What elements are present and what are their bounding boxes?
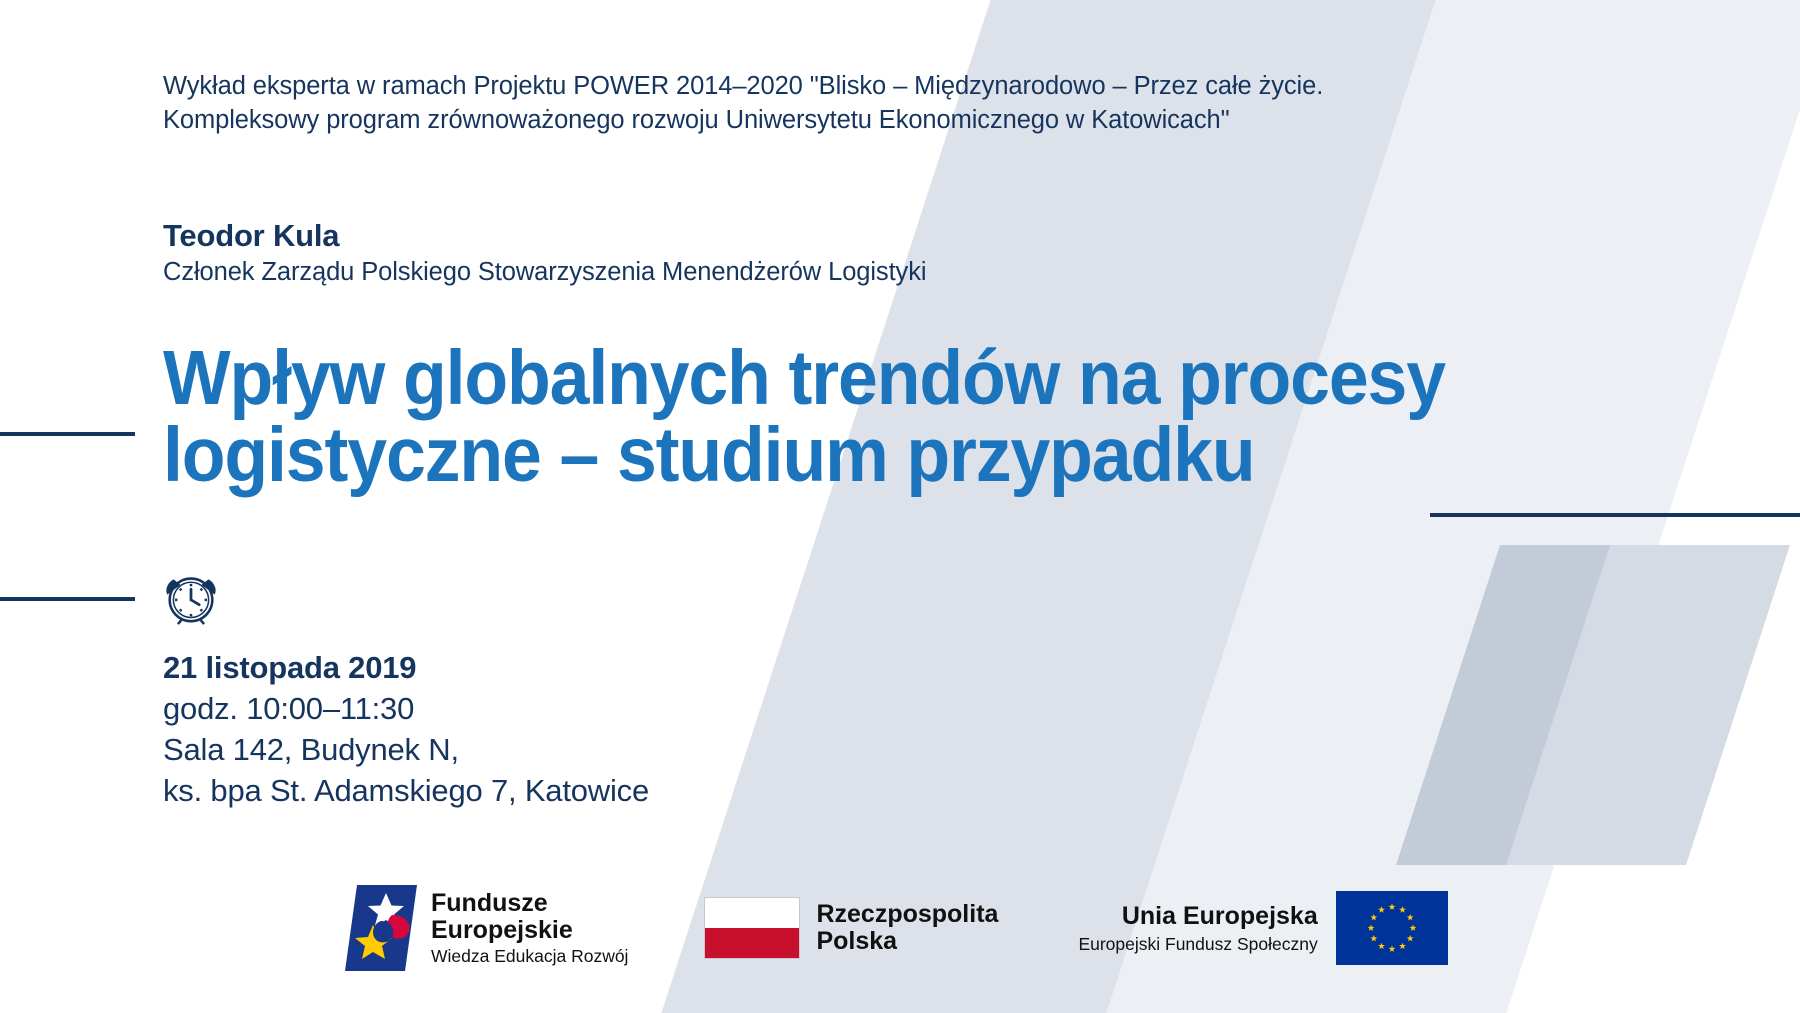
lecture-title-line-2: logistyczne – studium przypadku — [163, 417, 1577, 494]
rzeczpospolita-text: Rzeczpospolita Polska — [816, 901, 998, 956]
logo-rzeczpospolita-polska: Rzeczpospolita Polska — [704, 897, 998, 959]
fundusze-line-3: Wiedza Edukacja Rozwój — [431, 947, 628, 966]
poland-flag-red-stripe — [705, 928, 799, 958]
rule-left-title — [0, 432, 135, 436]
project-description-line-2: Kompleksowy program zrównoważonego rozwo… — [163, 104, 1393, 138]
poland-flag-icon — [704, 897, 800, 959]
rule-right-title — [1430, 513, 1800, 517]
logo-unia-europejska: Unia Europejska Europejski Fundusz Społe… — [1078, 891, 1447, 965]
unia-europejska-text: Unia Europejska Europejski Fundusz Społe… — [1078, 902, 1317, 954]
event-address: ks. bpa St. Adamskiego 7, Katowice — [163, 771, 649, 812]
unia-line-1: Unia Europejska — [1078, 902, 1317, 931]
fundusze-line-2: Europejskie — [431, 917, 628, 944]
project-description: Wykład eksperta w ramach Projektu POWER … — [163, 70, 1393, 138]
funding-logo-strip: Fundusze Europejskie Wiedza Edukacja Roz… — [345, 885, 1448, 971]
alarm-clock-icon — [160, 565, 222, 627]
event-room: Sala 142, Budynek N, — [163, 730, 649, 771]
speaker-name: Teodor Kula — [163, 218, 339, 254]
poland-flag-white-stripe — [705, 898, 799, 928]
event-time: godz. 10:00–11:30 — [163, 689, 649, 730]
logo-fundusze-europejskie: Fundusze Europejskie Wiedza Edukacja Roz… — [345, 885, 628, 971]
event-date: 21 listopada 2019 — [163, 648, 649, 689]
project-description-line-1: Wykład eksperta w ramach Projektu POWER … — [163, 70, 1393, 104]
unia-line-2: Europejski Fundusz Społeczny — [1078, 934, 1317, 954]
fundusze-europejskie-text: Fundusze Europejskie Wiedza Edukacja Roz… — [431, 890, 628, 966]
rzeczpospolita-line-1: Rzeczpospolita — [816, 901, 998, 929]
lecture-title: Wpływ globalnych trendów na procesy logi… — [163, 340, 1683, 494]
event-details: 21 listopada 2019 godz. 10:00–11:30 Sala… — [163, 648, 649, 812]
fundusze-line-1: Fundusze — [431, 890, 628, 917]
poster-canvas: Wykład eksperta w ramach Projektu POWER … — [0, 0, 1800, 1013]
rule-left-clock — [0, 597, 135, 601]
fundusze-europejskie-logo-icon — [345, 885, 417, 971]
rzeczpospolita-line-2: Polska — [816, 928, 998, 956]
lecture-title-line-1: Wpływ globalnych trendów na procesy — [163, 340, 1577, 417]
speaker-role: Członek Zarządu Polskiego Stowarzyszenia… — [163, 258, 926, 287]
eu-flag-icon — [1336, 891, 1448, 965]
